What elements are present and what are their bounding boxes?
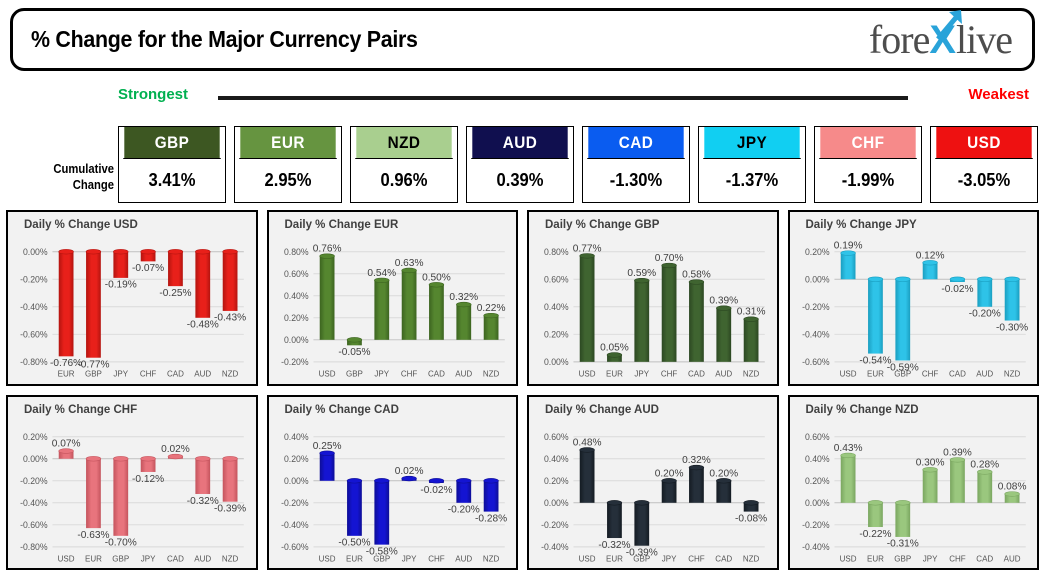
bar-aud (456, 305, 471, 340)
bar-eur (347, 480, 362, 535)
bar-cap (374, 478, 389, 483)
y-axis-tick-label: -0.20% (281, 357, 309, 367)
y-axis-tick-label: 0.60% (283, 269, 308, 279)
bar-value-label: -0.28% (475, 513, 507, 524)
bar-value-label: 0.20% (709, 468, 738, 479)
x-axis-category-label: NZD (743, 554, 760, 563)
bar-eur (607, 502, 622, 537)
y-axis-tick-label: -0.80% (20, 357, 48, 367)
y-axis-tick-label: -0.40% (20, 497, 48, 507)
currency-card-value: 3.41% (123, 158, 221, 202)
chart-panel-nzd: Daily % Change NZD0.60%0.40%0.20%0.00%-0… (788, 395, 1040, 571)
y-axis-tick-label: 0.20% (804, 475, 829, 485)
chart-plot-area: 0.40%0.20%0.00%-0.20%-0.40%-0.60%0.25%US… (269, 421, 513, 567)
y-axis-tick-label: -0.60% (20, 329, 48, 339)
bar-value-label: 0.22% (476, 303, 505, 314)
y-axis-tick-label: 0.20% (544, 329, 569, 339)
bar-usd (580, 449, 595, 502)
x-axis-category-label: AUD (194, 370, 211, 379)
bar-value-label: 0.30% (915, 457, 944, 468)
bar-aud (195, 458, 210, 493)
currency-card-cad[interactable]: CAD-1.30% (582, 126, 690, 203)
x-axis-category-label: JPY (113, 370, 128, 379)
bar-usd (840, 253, 855, 279)
bar-chart-svg: 0.80%0.60%0.40%0.20%0.00%0.77%USD0.05%EU… (529, 236, 773, 382)
bar-chf (950, 459, 965, 502)
y-axis-tick-label: 0.20% (283, 453, 308, 463)
bar-chart-svg: 0.60%0.40%0.20%0.00%-0.20%-0.40%0.43%USD… (790, 421, 1034, 567)
currency-card-value: -1.30% (587, 158, 685, 202)
y-axis-tick-label: 0.20% (283, 313, 308, 323)
y-axis-tick-label: -0.80% (20, 541, 48, 551)
x-axis-category-label: GBP (633, 554, 650, 563)
arrow-up-right-icon (935, 8, 965, 42)
bar-value-label: 0.02% (161, 444, 190, 455)
x-axis-category-label: USD (579, 370, 596, 379)
strongest-label: Strongest (118, 86, 188, 103)
bar-cap (634, 500, 649, 505)
chart-title: Daily % Change CAD (285, 404, 399, 416)
x-axis-category-label: JPY (374, 370, 389, 379)
title-bar: % Change for the Major Currency Pairs fo… (10, 8, 1035, 71)
currency-card-nzd[interactable]: NZD0.96% (350, 126, 458, 203)
bar-value-label: 0.39% (709, 296, 738, 307)
bar-value-label: -0.12% (132, 473, 164, 484)
bar-value-label: -0.20% (968, 309, 1000, 320)
currency-card-value: -3.05% (935, 158, 1033, 202)
bar-chf (401, 270, 416, 339)
bar-gbp (895, 279, 910, 360)
chart-panel-chf: Daily % Change CHF0.20%0.00%-0.20%-0.40%… (6, 395, 258, 571)
y-axis-tick-label: -0.20% (802, 302, 830, 312)
bar-jpy (922, 469, 937, 502)
bar-value-label: 0.31% (737, 307, 766, 318)
bar-aud (195, 252, 210, 318)
bar-gbp (113, 458, 128, 535)
currency-card-gbp[interactable]: GBP3.41% (118, 126, 226, 203)
bar-cap (868, 277, 883, 282)
bar-value-label: -0.07% (132, 263, 164, 274)
y-axis-tick-label: 0.00% (544, 497, 569, 507)
bar-nzd (483, 316, 498, 340)
bar-usd (319, 256, 334, 340)
cumulative-change-label: Cumulative Change (17, 162, 114, 193)
bar-value-label: 0.19% (833, 241, 862, 252)
bar-value-label: 0.39% (943, 447, 972, 458)
x-axis-category-label: NZD (743, 370, 760, 379)
bar-value-label: -0.02% (420, 484, 452, 495)
currency-card-code: CAD (588, 127, 683, 158)
y-axis-tick-label: -0.20% (802, 519, 830, 529)
bar-usd (840, 455, 855, 502)
chart-plot-area: 0.60%0.40%0.20%0.00%-0.20%-0.40%0.43%USD… (790, 421, 1034, 567)
bar-value-label: 0.07% (52, 438, 81, 449)
y-axis-tick-label: -0.40% (20, 302, 48, 312)
bar-cap (977, 277, 992, 282)
x-axis-category-label: CAD (715, 554, 732, 563)
y-axis-tick-label: 0.00% (283, 475, 308, 485)
bar-cap (429, 478, 444, 483)
x-axis-category-label: GBP (894, 554, 911, 563)
bar-cap (141, 249, 156, 254)
x-axis-category-label: USD (318, 370, 335, 379)
x-axis-category-label: GBP (85, 370, 102, 379)
x-axis-category-label: EUR (85, 554, 102, 563)
bar-eur (868, 279, 883, 353)
y-axis-tick-label: 0.00% (804, 274, 829, 284)
logo-x-letter: X (929, 20, 956, 60)
bar-nzd (223, 458, 238, 501)
x-axis-category-label: EUR (606, 554, 623, 563)
y-axis-tick-label: -0.60% (802, 357, 830, 367)
x-axis-category-label: NZD (1003, 370, 1020, 379)
y-axis-tick-label: -0.40% (541, 541, 569, 551)
bar-cap (223, 249, 238, 254)
bar-cap (607, 500, 622, 505)
bar-cap (168, 249, 183, 254)
bar-value-label: -0.39% (214, 503, 246, 514)
currency-cards: GBP3.41%EUR2.95%NZD0.96%AUD0.39%CAD-1.30… (118, 126, 1038, 203)
bar-jpy (662, 480, 677, 502)
x-axis-category-label: EUR (345, 554, 362, 563)
x-axis-category-label: NZD (482, 370, 499, 379)
x-axis-category-label: CHF (140, 370, 157, 379)
chart-plot-area: 0.00%-0.20%-0.40%-0.60%-0.80%-0.76%EUR-0… (8, 236, 252, 382)
bar-chart-svg: 0.20%0.00%-0.20%-0.40%-0.60%-0.80%0.07%U… (8, 421, 252, 567)
bar-chart-svg: 0.40%0.20%0.00%-0.20%-0.40%-0.60%0.25%US… (269, 421, 513, 567)
bar-value-label: 0.02% (394, 466, 423, 477)
chart-plot-area: 0.20%0.00%-0.20%-0.40%-0.60%0.19%USD-0.5… (790, 236, 1034, 382)
x-axis-category-label: CAD (948, 370, 965, 379)
currency-card-aud[interactable]: AUD0.39% (466, 126, 574, 203)
x-axis-category-label: JPY (141, 554, 156, 563)
bar-cap (456, 478, 471, 483)
currency-card-chf[interactable]: CHF-1.99% (814, 126, 922, 203)
x-axis-category-label: CHF (949, 554, 966, 563)
bar-cap (86, 456, 101, 461)
chart-plot-area: 0.80%0.60%0.40%0.20%0.00%-0.20%0.76%USD-… (269, 236, 513, 382)
y-axis-tick-label: 0.00% (804, 497, 829, 507)
bar-value-label: 0.12% (915, 250, 944, 261)
x-axis-category-label: CAD (427, 370, 444, 379)
x-axis-category-label: CAD (976, 554, 993, 563)
bar-jpy (374, 280, 389, 339)
bar-value-label: 0.20% (655, 468, 684, 479)
bar-cad (429, 285, 444, 340)
bar-chart-svg: 0.80%0.60%0.40%0.20%0.00%-0.20%0.76%USD-… (269, 236, 513, 382)
x-axis-category-label: CHF (661, 370, 678, 379)
page-title: % Change for the Major Currency Pairs (31, 26, 418, 53)
bar-value-label: -0.43% (214, 313, 246, 324)
bar-value-label: 0.54% (367, 268, 396, 279)
bar-jpy (634, 281, 649, 362)
bar-value-label: 0.28% (970, 459, 999, 470)
bar-gbp (895, 502, 910, 536)
chart-title: Daily % Change JPY (806, 219, 917, 231)
y-axis-tick-label: 0.20% (804, 247, 829, 257)
bar-value-label: 0.05% (600, 342, 629, 353)
currency-card-eur[interactable]: EUR2.95% (234, 126, 342, 203)
bar-cap (113, 456, 128, 461)
bar-value-label: 0.25% (312, 440, 341, 451)
currency-card-code: GBP (124, 127, 219, 158)
x-axis-category-label: USD (839, 554, 856, 563)
bar-value-label: -0.02% (941, 284, 973, 295)
y-axis-tick-label: -0.40% (281, 519, 309, 529)
x-axis-category-label: USD (58, 554, 75, 563)
y-axis-tick-label: 0.00% (23, 247, 48, 257)
bar-eur (868, 502, 883, 526)
chart-panel-eur: Daily % Change EUR0.80%0.60%0.40%0.20%0.… (267, 210, 519, 386)
currency-card-code: NZD (356, 127, 451, 158)
strength-scale-line (218, 96, 908, 100)
x-axis-category-label: AUD (194, 554, 211, 563)
y-axis-tick-label: 0.80% (283, 247, 308, 257)
bar-cad (168, 252, 183, 286)
y-axis-tick-label: -0.20% (20, 475, 48, 485)
currency-card-code: USD (936, 127, 1031, 158)
y-axis-tick-label: 0.60% (804, 431, 829, 441)
bar-chart-svg: 0.60%0.40%0.20%0.00%-0.20%-0.40%0.48%USD… (529, 421, 773, 567)
y-axis-tick-label: -0.40% (802, 329, 830, 339)
cumulative-change-label-line2: Change (17, 178, 114, 194)
x-axis-category-label: USD (318, 554, 335, 563)
x-axis-category-label: EUR (866, 554, 883, 563)
bar-cap (141, 456, 156, 461)
bar-value-label: 0.77% (573, 243, 602, 254)
chart-title: Daily % Change AUD (545, 404, 659, 416)
chart-panels: Daily % Change USD0.00%-0.20%-0.40%-0.60… (6, 210, 1039, 570)
forexlive-logo[interactable]: fore X live (869, 20, 1018, 60)
x-axis-category-label: GBP (894, 370, 911, 379)
bar-value-label: 0.08% (997, 481, 1026, 492)
currency-card-jpy[interactable]: JPY-1.37% (698, 126, 806, 203)
bar-value-label: 0.50% (422, 272, 451, 283)
currency-card-usd[interactable]: USD-3.05% (930, 126, 1038, 203)
y-axis-tick-label: -0.40% (802, 541, 830, 551)
bar-value-label: 0.70% (655, 253, 684, 264)
x-axis-category-label: CAD (167, 554, 184, 563)
bar-usd (319, 453, 334, 481)
currency-card-code: JPY (704, 127, 799, 158)
y-axis-tick-label: 0.40% (283, 291, 308, 301)
x-axis-category-label: JPY (401, 554, 416, 563)
x-axis-category-label: CAD (688, 370, 705, 379)
currency-card-value: 0.96% (355, 158, 453, 202)
bar-value-label: 0.48% (573, 437, 602, 448)
x-axis-category-label: AUD (976, 370, 993, 379)
logo-prefix: fore (869, 20, 929, 60)
y-axis-tick-label: 0.60% (544, 431, 569, 441)
chart-title: Daily % Change NZD (806, 404, 919, 416)
y-axis-tick-label: -0.60% (281, 541, 309, 551)
currency-card-value: -1.99% (819, 158, 917, 202)
bar-cap (744, 500, 759, 505)
y-axis-tick-label: 0.40% (544, 453, 569, 463)
bar-cap (195, 456, 210, 461)
y-axis-tick-label: 0.00% (283, 335, 308, 345)
x-axis-category-label: AUD (455, 370, 472, 379)
chart-panel-gbp: Daily % Change GBP0.80%0.60%0.40%0.20%0.… (527, 210, 779, 386)
currency-card-value: 2.95% (239, 158, 337, 202)
bar-cap (895, 500, 910, 505)
x-axis-category-label: EUR (58, 370, 75, 379)
bar-value-label: 0.76% (312, 244, 341, 255)
bar-aud (716, 308, 731, 362)
x-axis-category-label: AUD (715, 370, 732, 379)
cumulative-change-label-line1: Cumulative (17, 162, 114, 178)
currency-card-code: AUD (472, 127, 567, 158)
x-axis-category-label: CHF (688, 554, 705, 563)
bar-value-label: 0.43% (833, 442, 862, 453)
bar-eur (59, 252, 74, 357)
bar-usd (580, 256, 595, 362)
chart-title: Daily % Change GBP (545, 219, 659, 231)
y-axis-tick-label: 0.40% (283, 431, 308, 441)
chart-plot-area: 0.20%0.00%-0.20%-0.40%-0.60%-0.80%0.07%U… (8, 421, 252, 567)
chart-panel-cad: Daily % Change CAD0.40%0.20%0.00%-0.20%-… (267, 395, 519, 571)
chart-plot-area: 0.60%0.40%0.20%0.00%-0.20%-0.40%0.48%USD… (529, 421, 773, 567)
bar-chf (689, 467, 704, 502)
y-axis-tick-label: 0.60% (544, 274, 569, 284)
bar-value-label: -0.70% (105, 537, 137, 548)
y-axis-tick-label: 0.80% (544, 247, 569, 257)
bar-chart-svg: 0.20%0.00%-0.20%-0.40%-0.60%0.19%USD-0.5… (790, 236, 1034, 382)
x-axis-category-label: NZD (482, 554, 499, 563)
bar-cap (347, 478, 362, 483)
y-axis-tick-label: -0.20% (20, 274, 48, 284)
bar-cap (950, 277, 965, 282)
x-axis-category-label: CHF (428, 554, 445, 563)
bar-cad (689, 282, 704, 362)
bar-nzd (1004, 279, 1019, 320)
x-axis-category-label: GBP (345, 370, 362, 379)
bar-chart-svg: 0.00%-0.20%-0.40%-0.60%-0.80%-0.76%EUR-0… (8, 236, 252, 382)
bar-value-label: -0.31% (886, 538, 918, 549)
bar-aud (977, 279, 992, 307)
bar-nzd (483, 480, 498, 511)
chart-title: Daily % Change EUR (285, 219, 399, 231)
bar-jpy (113, 252, 128, 278)
y-axis-tick-label: -0.20% (541, 519, 569, 529)
bar-value-label: -0.30% (996, 322, 1028, 333)
currency-card-code: EUR (240, 127, 335, 158)
bar-value-label: -0.05% (338, 347, 370, 358)
bar-value-label: 0.59% (627, 268, 656, 279)
x-axis-category-label: JPY (922, 554, 937, 563)
x-axis-category-label: EUR (606, 370, 623, 379)
chart-plot-area: 0.80%0.60%0.40%0.20%0.00%0.77%USD0.05%EU… (529, 236, 773, 382)
bar-cap (86, 249, 101, 254)
y-axis-tick-label: 0.20% (23, 431, 48, 441)
bar-value-label: 0.32% (449, 292, 478, 303)
x-axis-category-label: CHF (921, 370, 938, 379)
bar-eur (86, 458, 101, 527)
bar-nzd (223, 252, 238, 311)
y-axis-tick-label: -0.20% (281, 497, 309, 507)
chart-panel-usd: Daily % Change USD0.00%-0.20%-0.40%-0.60… (6, 210, 258, 386)
bar-gbp (86, 252, 101, 358)
bar-value-label: 0.32% (682, 455, 711, 466)
x-axis-category-label: CHF (400, 370, 417, 379)
currency-card-code: CHF (820, 127, 915, 158)
chart-panel-aud: Daily % Change AUD0.60%0.40%0.20%0.00%-0… (527, 395, 779, 571)
bar-chf (662, 265, 677, 361)
bar-gbp (634, 502, 649, 545)
bar-cap (59, 249, 74, 254)
x-axis-category-label: CAD (167, 370, 184, 379)
x-axis-category-label: AUD (1003, 554, 1020, 563)
bar-nzd (744, 319, 759, 362)
bar-value-label: 0.58% (682, 270, 711, 281)
bar-cap (1004, 277, 1019, 282)
y-axis-tick-label: 0.40% (544, 302, 569, 312)
x-axis-category-label: EUR (866, 370, 883, 379)
x-axis-category-label: AUD (455, 554, 472, 563)
bar-cap (868, 500, 883, 505)
y-axis-tick-label: 0.20% (544, 475, 569, 485)
chart-title: Daily % Change CHF (24, 404, 137, 416)
y-axis-tick-label: -0.60% (20, 519, 48, 529)
bar-value-label: -0.25% (159, 288, 191, 299)
y-axis-tick-label: 0.40% (804, 453, 829, 463)
x-axis-category-label: USD (579, 554, 596, 563)
bar-cap (483, 478, 498, 483)
strength-scale: Strongest Weakest (0, 86, 1045, 112)
x-axis-category-label: JPY (662, 554, 677, 563)
bar-value-label: -0.19% (105, 280, 137, 291)
currency-change-dashboard: % Change for the Major Currency Pairs fo… (0, 0, 1045, 576)
x-axis-category-label: NZD (222, 554, 239, 563)
chart-title: Daily % Change USD (24, 219, 138, 231)
bar-cap (347, 337, 362, 342)
y-axis-tick-label: 0.00% (544, 357, 569, 367)
x-axis-category-label: NZD (222, 370, 239, 379)
x-axis-category-label: GBP (373, 554, 390, 563)
bar-value-label: -0.08% (735, 513, 767, 524)
x-axis-category-label: USD (839, 370, 856, 379)
bar-cad (716, 480, 731, 502)
bar-cad (977, 471, 992, 502)
y-axis-tick-label: 0.00% (23, 453, 48, 463)
currency-card-value: 0.39% (471, 158, 569, 202)
bar-cap (195, 249, 210, 254)
weakest-label: Weakest (968, 86, 1029, 103)
x-axis-category-label: JPY (634, 370, 649, 379)
bar-value-label: 0.63% (394, 258, 423, 269)
bar-cap (223, 456, 238, 461)
chart-panel-jpy: Daily % Change JPY0.20%0.00%-0.20%-0.40%… (788, 210, 1040, 386)
bar-cap (895, 277, 910, 282)
currency-card-value: -1.37% (703, 158, 801, 202)
x-axis-category-label: GBP (112, 554, 129, 563)
bar-gbp (374, 480, 389, 544)
bar-cap (113, 249, 128, 254)
bar-aud (456, 480, 471, 502)
